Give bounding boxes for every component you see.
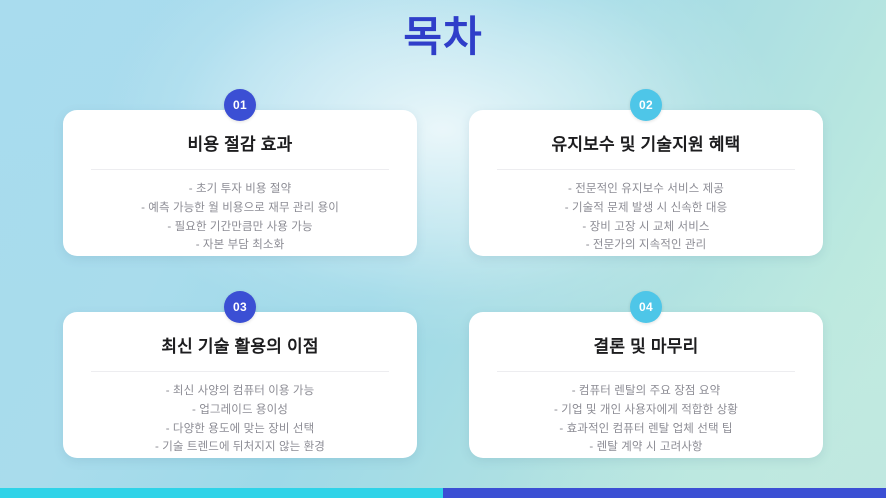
card-title: 유지보수 및 기술지원 혜택 (487, 134, 805, 155)
card-number-badge: 01 (224, 89, 256, 121)
bottom-accent-bar-right (443, 488, 886, 498)
card-title: 비용 절감 효과 (81, 134, 399, 155)
card-bullet-item: - 효과적인 컴퓨터 렌탈 업체 선택 팁 (487, 420, 805, 439)
card-bullet-list: - 최신 사양의 컴퓨터 이용 가능 - 업그레이드 용이성 - 다양한 용도에… (81, 382, 399, 457)
card-bullet-item: - 최신 사양의 컴퓨터 이용 가능 (81, 382, 399, 401)
contents-card[interactable]: 02 유지보수 및 기술지원 혜택 - 전문적인 유지보수 서비스 제공 - 기… (469, 110, 823, 256)
card-bullet-item: - 필요한 기간만큼만 사용 가능 (81, 218, 399, 237)
card-bullet-item: - 예측 가능한 월 비용으로 재무 관리 용이 (81, 199, 399, 218)
bottom-accent-bar (0, 488, 886, 498)
card-bullet-item: - 업그레이드 용이성 (81, 401, 399, 420)
contents-card-grid: 01 비용 절감 효과 - 초기 투자 비용 절약 - 예측 가능한 월 비용으… (63, 110, 823, 458)
card-divider (91, 371, 390, 372)
card-number-badge: 04 (630, 291, 662, 323)
card-bullet-list: - 초기 투자 비용 절약 - 예측 가능한 월 비용으로 재무 관리 용이 -… (81, 180, 399, 255)
card-number-badge: 03 (224, 291, 256, 323)
card-bullet-item: - 초기 투자 비용 절약 (81, 180, 399, 199)
card-bullet-item: - 기업 및 개인 사용자에게 적합한 상황 (487, 401, 805, 420)
page-title: 목차 (0, 13, 886, 61)
card-bullet-item: - 전문적인 유지보수 서비스 제공 (487, 180, 805, 199)
contents-card[interactable]: 04 결론 및 마무리 - 컴퓨터 렌탈의 주요 장점 요약 - 기업 및 개인… (469, 312, 823, 458)
card-bullet-item: - 전문가의 지속적인 관리 (487, 236, 805, 255)
card-title: 결론 및 마무리 (487, 336, 805, 357)
card-bullet-item: - 기술적 문제 발생 시 신속한 대응 (487, 199, 805, 218)
card-bullet-item: - 기술 트렌드에 뒤처지지 않는 환경 (81, 438, 399, 457)
card-bullet-list: - 전문적인 유지보수 서비스 제공 - 기술적 문제 발생 시 신속한 대응 … (487, 180, 805, 255)
card-bullet-item: - 자본 부담 최소화 (81, 236, 399, 255)
card-bullet-item: - 장비 고장 시 교체 서비스 (487, 218, 805, 237)
card-divider (497, 169, 796, 170)
card-divider (497, 371, 796, 372)
card-title: 최신 기술 활용의 이점 (81, 336, 399, 357)
slide: 목차 01 비용 절감 효과 - 초기 투자 비용 절약 - 예측 가능한 월 … (0, 0, 886, 498)
bottom-accent-bar-left (0, 488, 443, 498)
card-bullet-item: - 렌탈 계약 시 고려사항 (487, 438, 805, 457)
contents-card[interactable]: 01 비용 절감 효과 - 초기 투자 비용 절약 - 예측 가능한 월 비용으… (63, 110, 417, 256)
card-divider (91, 169, 390, 170)
card-number-badge: 02 (630, 89, 662, 121)
contents-card[interactable]: 03 최신 기술 활용의 이점 - 최신 사양의 컴퓨터 이용 가능 - 업그레… (63, 312, 417, 458)
card-bullet-item: - 컴퓨터 렌탈의 주요 장점 요약 (487, 382, 805, 401)
card-bullet-list: - 컴퓨터 렌탈의 주요 장점 요약 - 기업 및 개인 사용자에게 적합한 상… (487, 382, 805, 457)
card-bullet-item: - 다양한 용도에 맞는 장비 선택 (81, 420, 399, 439)
